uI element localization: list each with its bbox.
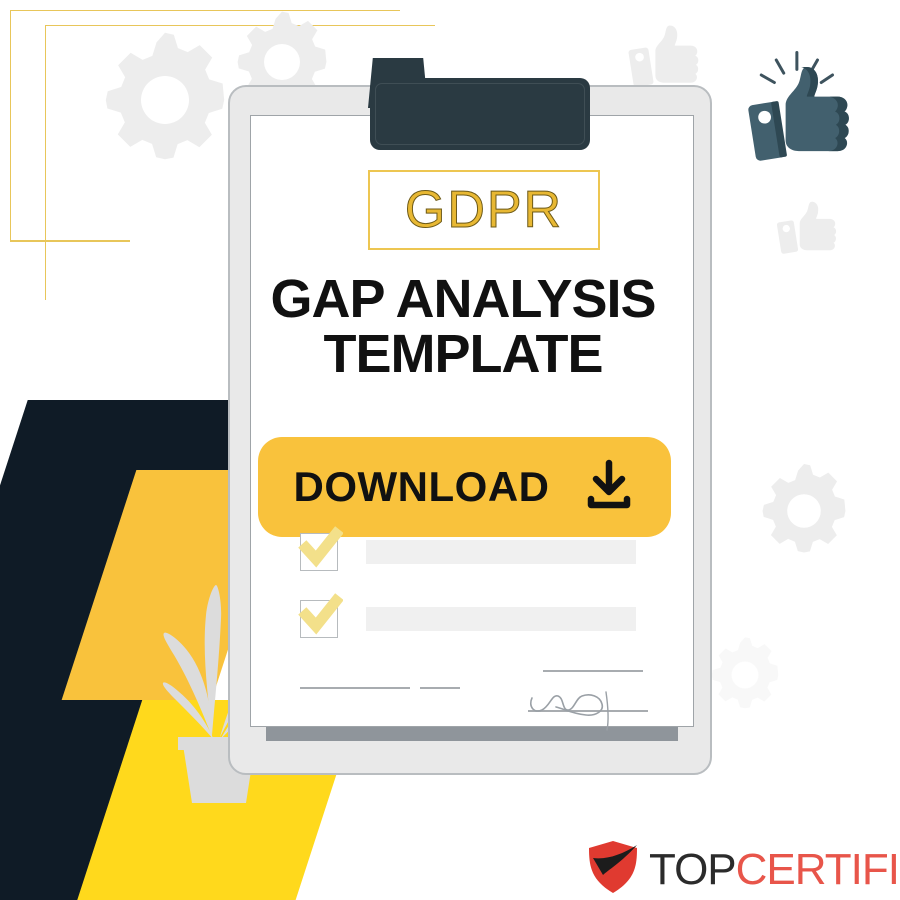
brand-logo[interactable]: TOPCERTIFIER xyxy=(585,838,900,900)
download-arrow-icon xyxy=(583,458,635,517)
brand-logo-certifier: CERTIFIER xyxy=(736,845,900,894)
gdpr-eyebrow-box: GDPR xyxy=(368,170,600,250)
brand-logo-text: TOPCERTIFIER xyxy=(649,848,900,892)
placeholder-bar xyxy=(366,540,636,564)
download-button[interactable]: DOWNLOAD xyxy=(258,437,671,537)
placeholder-bar xyxy=(366,607,636,631)
download-button-label: DOWNLOAD xyxy=(294,463,550,511)
headline-line-2: TEMPLATE xyxy=(248,327,678,382)
signature-scribble-icon xyxy=(520,668,660,743)
headline-line-1: GAP ANALYSIS xyxy=(270,269,655,329)
gear-icon xyxy=(700,630,790,720)
signature-line xyxy=(420,687,460,689)
gdpr-label: GDPR xyxy=(405,180,563,240)
checkbox-checked-icon[interactable] xyxy=(300,533,338,571)
clipboard-clip-bar xyxy=(370,78,590,150)
thumbs-up-icon xyxy=(768,192,846,270)
poster-canvas: GDPR GAP ANALYSIS TEMPLATE DOWNLOAD xyxy=(0,0,900,900)
list-item xyxy=(300,600,636,638)
signature-line xyxy=(300,687,410,689)
list-item xyxy=(300,533,636,571)
checkbox-checked-icon[interactable] xyxy=(300,600,338,638)
page-title: GAP ANALYSIS TEMPLATE xyxy=(248,272,678,382)
shield-check-icon xyxy=(585,838,641,900)
gear-icon xyxy=(748,455,860,567)
gear-icon xyxy=(85,20,245,180)
brand-logo-top: TOP xyxy=(649,845,736,894)
thumbs-up-icon xyxy=(735,45,885,200)
